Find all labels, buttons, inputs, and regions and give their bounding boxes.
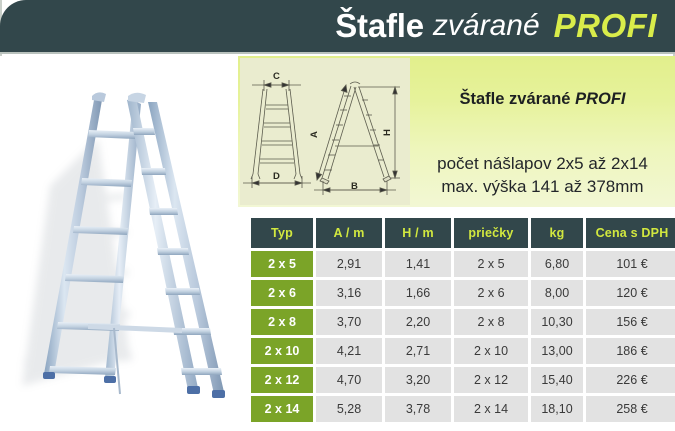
cell-cena: 120 € (586, 280, 675, 306)
cell-kg: 15,40 (531, 367, 583, 393)
cell-priecky: 2 x 6 (454, 280, 528, 306)
diagram-label-h: H (382, 129, 393, 136)
panel-heading-bold: Štafle zvárané (460, 90, 576, 108)
cell-kg: 18,10 (531, 396, 583, 422)
panel-line-height: max. výška 141 až 378mm (410, 175, 675, 198)
technical-diagram: C D B A H (240, 58, 410, 205)
cell-a: 4,70 (316, 367, 382, 393)
product-sheet: Štafle zvárané PROFI (0, 0, 675, 431)
cell-a: 5,28 (316, 396, 382, 422)
table-row: 2 x 8 3,70 2,20 2 x 8 10,30 156 € (251, 309, 675, 335)
cell-priecky: 2 x 12 (454, 367, 528, 393)
cell-h: 1,66 (385, 280, 451, 306)
table-row: 2 x 10 4,21 2,71 2 x 10 13,00 186 € (251, 338, 675, 364)
specification-table: Typ A / m H / m priečky kg Cena s DPH 2 … (248, 215, 675, 425)
table-row: 2 x 6 3,16 1,66 2 x 6 8,00 120 € (251, 280, 675, 306)
ladder-front-section (127, 93, 225, 398)
cell-typ: 2 x 8 (251, 309, 313, 335)
diagram-label-a: A (309, 131, 320, 138)
cell-a: 3,70 (316, 309, 382, 335)
cell-h: 2,20 (385, 309, 451, 335)
header-banner: Štafle zvárané PROFI (0, 0, 675, 54)
cell-a: 3,16 (316, 280, 382, 306)
panel-heading: Štafle zvárané PROFI (410, 90, 675, 120)
cell-h: 1,41 (385, 251, 451, 277)
panel-line-steps: počet nášlapov 2x5 až 2x14 (410, 152, 675, 175)
title-subtitle: zvárané (433, 9, 540, 43)
cell-cena: 186 € (586, 338, 675, 364)
cell-typ: 2 x 5 (251, 251, 313, 277)
page-title: Štafle zvárané PROFI (335, 0, 657, 52)
table-row: 2 x 14 5,28 3,78 2 x 14 18,10 258 € (251, 396, 675, 422)
col-header-a: A / m (316, 218, 382, 248)
cell-cena: 101 € (586, 251, 675, 277)
cell-typ: 2 x 6 (251, 280, 313, 306)
table-row: 2 x 12 4,70 3,20 2 x 12 15,40 226 € (251, 367, 675, 393)
col-header-typ: Typ (251, 218, 313, 248)
cell-typ: 2 x 14 (251, 396, 313, 422)
cell-h: 3,78 (385, 396, 451, 422)
col-header-h: H / m (385, 218, 451, 248)
cell-typ: 2 x 12 (251, 367, 313, 393)
cell-kg: 10,30 (531, 309, 583, 335)
col-header-cena: Cena s DPH (586, 218, 675, 248)
ladder-photo-illustration (2, 56, 238, 431)
table-header-row: Typ A / m H / m priečky kg Cena s DPH (251, 218, 675, 248)
panel-heading-italic: PROFI (575, 90, 625, 108)
technical-diagram-svg: C D B A H (240, 58, 410, 205)
diagram-label-c: C (273, 71, 280, 82)
cell-typ: 2 x 10 (251, 338, 313, 364)
cell-priecky: 2 x 8 (454, 309, 528, 335)
cell-kg: 8,00 (531, 280, 583, 306)
table-row: 2 x 5 2,91 1,41 2 x 5 6,80 101 € (251, 251, 675, 277)
cell-cena: 258 € (586, 396, 675, 422)
panel-description: počet nášlapov 2x5 až 2x14 max. výška 14… (410, 152, 675, 198)
title-accent: PROFI (554, 7, 657, 45)
cell-cena: 156 € (586, 309, 675, 335)
cell-priecky: 2 x 10 (454, 338, 528, 364)
cell-h: 3,20 (385, 367, 451, 393)
cell-kg: 13,00 (531, 338, 583, 364)
diagram-label-d: D (273, 171, 280, 182)
cell-a: 2,91 (316, 251, 382, 277)
cell-a: 4,21 (316, 338, 382, 364)
cell-cena: 226 € (586, 367, 675, 393)
cell-h: 2,71 (385, 338, 451, 364)
product-photo (2, 56, 238, 431)
cell-priecky: 2 x 14 (454, 396, 528, 422)
cell-kg: 6,80 (531, 251, 583, 277)
diagram-label-b: B (351, 181, 358, 192)
title-main: Štafle (335, 7, 424, 45)
col-header-kg: kg (531, 218, 583, 248)
col-header-priecky: priečky (454, 218, 528, 248)
cell-priecky: 2 x 5 (454, 251, 528, 277)
